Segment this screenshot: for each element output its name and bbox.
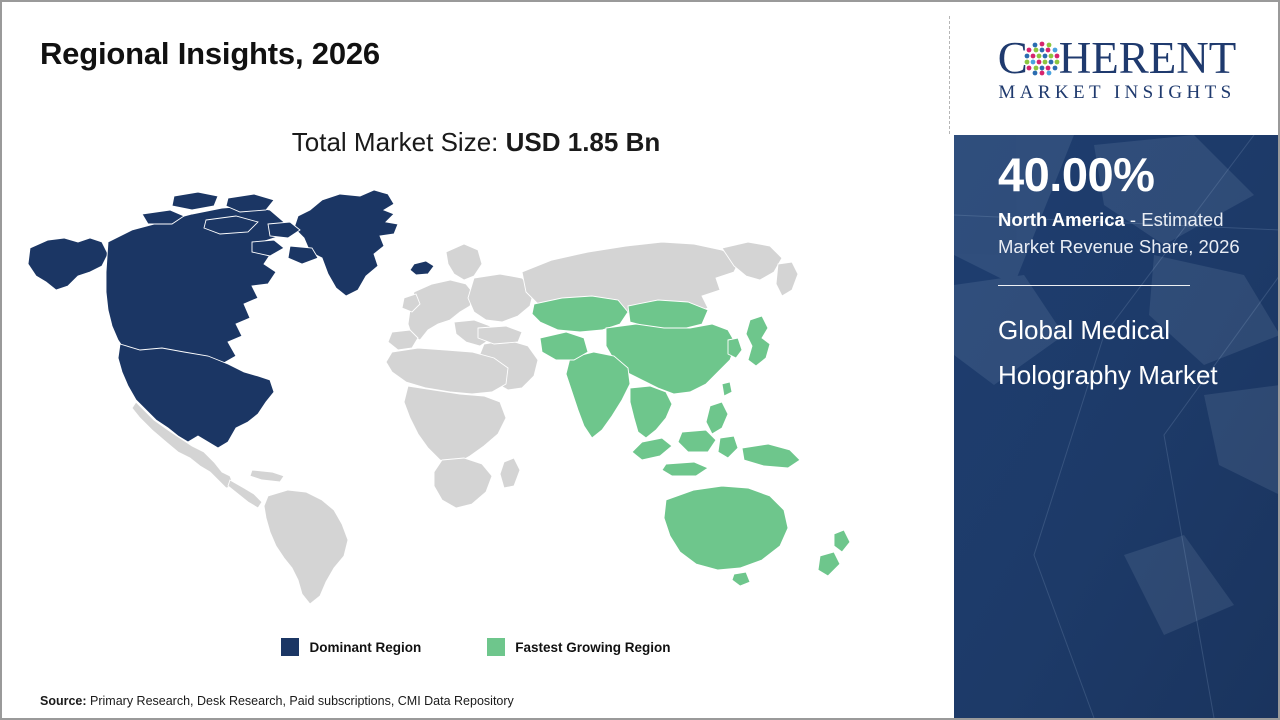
- map-region-caribbean: [250, 470, 284, 482]
- map-region-greenland: [294, 190, 398, 296]
- map-region-indonesia-java: [662, 462, 708, 476]
- map-region-sea-mainland: [630, 386, 672, 438]
- map-region-kamchatka: [776, 262, 798, 296]
- map-region-central-america: [228, 480, 262, 508]
- map-region-madagascar: [500, 458, 520, 488]
- map-region-alaska: [28, 238, 108, 290]
- map-region-iberia: [388, 330, 418, 350]
- map-region-africa-central: [404, 386, 506, 464]
- map-region-taiwan: [722, 382, 732, 396]
- vertical-dashed-divider: [949, 16, 950, 134]
- map-region-japan: [746, 316, 770, 366]
- legend-label-dominant: Dominant Region: [309, 640, 421, 655]
- total-market-size: Total Market Size: USD 1.85 Bn: [2, 127, 950, 158]
- world-map-svg: [22, 180, 902, 620]
- market-report-name: Global Medical Holography Market: [998, 308, 1254, 397]
- source-note: Source: Primary Research, Desk Research,…: [40, 694, 514, 708]
- map-region-new-guinea: [742, 444, 800, 468]
- map-region-canada-arctic-2: [226, 194, 274, 212]
- map-region-borneo: [678, 430, 716, 452]
- page-title: Regional Insights, 2026: [40, 36, 380, 72]
- legend-label-fastest-growing: Fastest Growing Region: [515, 640, 670, 655]
- map-region-canada-arctic-1: [172, 192, 218, 210]
- map-legend: Dominant Region Fastest Growing Region: [2, 638, 950, 656]
- map-region-australia: [664, 486, 788, 570]
- market-size-label: Total Market Size:: [292, 127, 506, 157]
- map-region-south-america: [264, 490, 348, 604]
- globe-dots-icon: [1022, 38, 1062, 78]
- stat-description: North America - Estimated Market Revenue…: [998, 207, 1254, 261]
- slide-frame: Regional Insights, 2026 Total Market Siz…: [0, 0, 1280, 720]
- logo-tagline: MARKET INSIGHTS: [998, 82, 1235, 104]
- world-map-container: [22, 180, 902, 620]
- map-region-indonesia-sumatra: [632, 438, 672, 460]
- logo-wordmark: C: [998, 35, 1237, 81]
- logo-wordmark-text: HERENT: [1059, 36, 1236, 81]
- map-region-usa: [118, 344, 274, 448]
- map-region-russia-far-east: [722, 242, 782, 280]
- left-content-panel: Regional Insights, 2026 Total Market Siz…: [2, 2, 950, 718]
- stat-panel: 40.00% North America - Estimated Market …: [954, 135, 1280, 718]
- brand-logo: C: [954, 2, 1280, 133]
- map-region-india: [566, 352, 630, 438]
- stat-percent-value: 40.00%: [998, 150, 1254, 199]
- market-size-value: USD 1.85 Bn: [506, 127, 661, 157]
- stat-horizontal-divider: [998, 285, 1190, 287]
- stat-region-name: North America: [998, 209, 1125, 230]
- legend-swatch-fastest-growing-icon: [487, 638, 505, 656]
- map-region-new-zealand-south: [818, 552, 840, 576]
- legend-item-dominant: Dominant Region: [281, 638, 421, 656]
- map-region-sulawesi: [718, 436, 738, 458]
- map-region-iceland: [410, 261, 434, 275]
- map-region-philippines: [706, 402, 728, 434]
- map-region-new-zealand-north: [834, 530, 850, 552]
- source-text: Primary Research, Desk Research, Paid su…: [87, 694, 514, 708]
- map-region-africa-south: [434, 458, 492, 508]
- map-region-pakistan-afghanistan: [540, 332, 588, 360]
- map-region-korea: [728, 338, 742, 358]
- map-region-tasmania: [732, 572, 750, 586]
- legend-swatch-dominant-icon: [281, 638, 299, 656]
- map-region-scandinavia: [446, 244, 482, 280]
- source-label: Source:: [40, 694, 87, 708]
- legend-item-fastest-growing: Fastest Growing Region: [487, 638, 670, 656]
- stat-panel-content: 40.00% North America - Estimated Market …: [998, 135, 1254, 398]
